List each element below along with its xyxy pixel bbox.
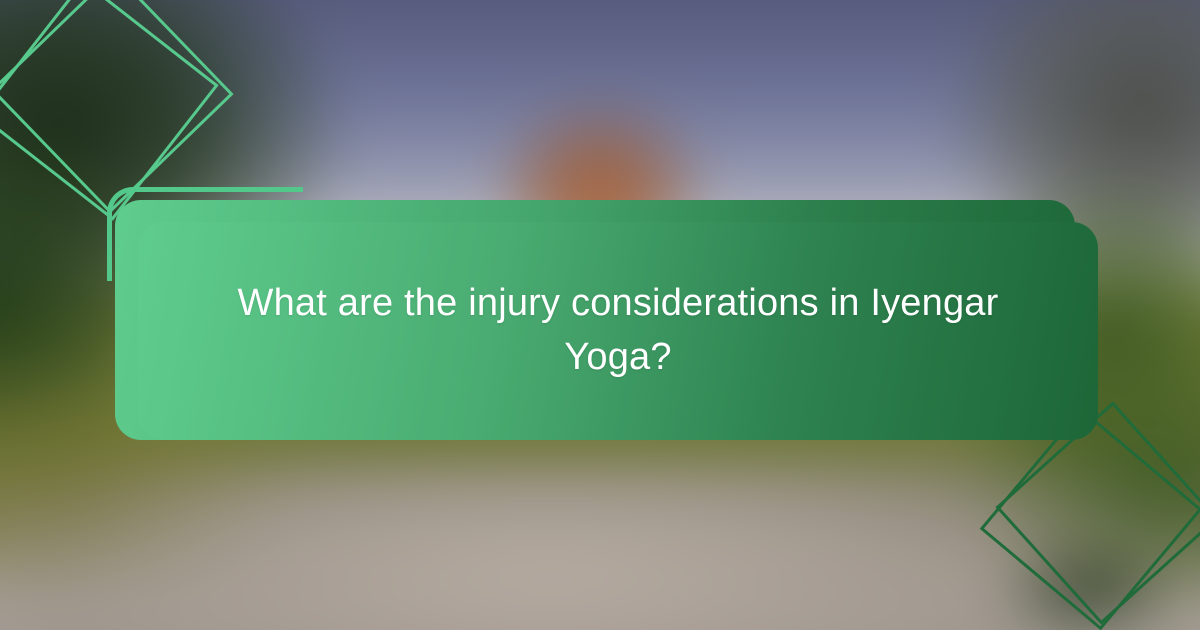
card-title: What are the injury considerations in Iy… <box>218 277 1018 385</box>
social-card-canvas: What are the injury considerations in Iy… <box>0 0 1200 630</box>
question-card: What are the injury considerations in Iy… <box>138 222 1098 440</box>
